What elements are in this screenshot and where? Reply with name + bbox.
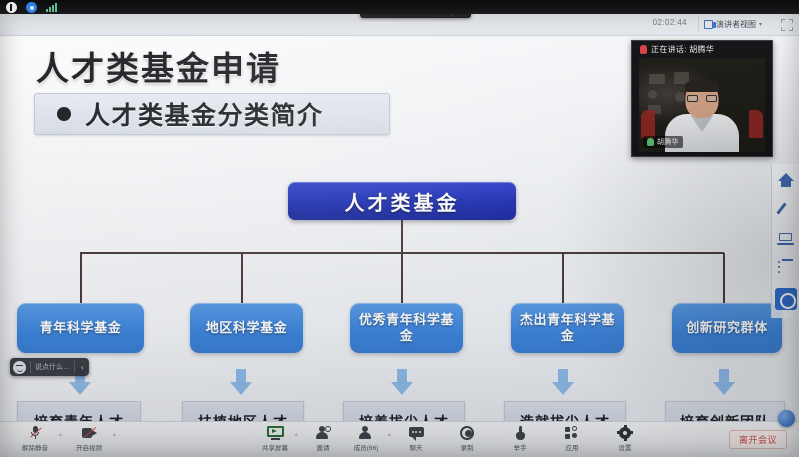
participant-name-badge: 胡腾华 — [643, 136, 683, 148]
list-icon[interactable] — [778, 259, 794, 275]
video-feed: 胡腾华 — [639, 58, 765, 152]
speaking-label: 正在讲话: 胡腾华 — [651, 44, 714, 55]
diagram-root-label: 人才类基金 — [345, 187, 460, 216]
divider — [30, 361, 31, 373]
sharing-notice-pill[interactable]: 您正在观看胡腾华的屏幕 — [360, 14, 471, 18]
speaker-video-tile[interactable]: 正在讲话: 胡腾华 胡 — [631, 40, 773, 157]
speaking-banner: 正在讲话: 胡腾华 — [632, 41, 772, 58]
leave-meeting-label: 离开会议 — [739, 433, 777, 446]
toolbar-video-label: 开启视频 — [76, 442, 102, 452]
divider — [451, 14, 452, 16]
quick-chat-input[interactable]: 说点什么… — [35, 362, 70, 372]
category-label: 地区科学基金 — [206, 320, 288, 336]
slide-subtitle-box: 人才类基金分类简介 — [34, 93, 390, 135]
pen-icon[interactable] — [778, 201, 794, 217]
power-icon — [6, 2, 17, 13]
mic-chevron-icon[interactable]: ^ — [59, 434, 62, 440]
system-tray — [6, 2, 57, 13]
mic-active-icon — [647, 138, 654, 146]
view-mode-label: 演讲者视图 — [716, 19, 756, 30]
category-card: 地区科学基金 — [190, 303, 303, 353]
connector-drop — [401, 253, 403, 303]
down-arrow-icon — [552, 369, 574, 395]
toolbar-chat-button[interactable]: 聊天 — [395, 425, 437, 452]
toolbar-item-label: 邀请 — [317, 442, 330, 452]
toolbar-mic-label: 解除静音 — [22, 442, 48, 452]
connector-trunk — [401, 220, 403, 253]
toolbar-record-button[interactable]: 录制 — [446, 425, 488, 452]
speaker-view-icon — [704, 20, 713, 29]
category-label: 青年科学基金 — [40, 320, 122, 336]
video-chevron-icon[interactable]: ^ — [113, 434, 116, 440]
participants-chevron-icon[interactable]: ^ — [388, 434, 391, 440]
connector-drop — [80, 253, 82, 303]
category-card: 杰出青年科学基金 — [511, 303, 624, 353]
emoji-icon[interactable] — [13, 361, 26, 374]
toolbar-share-screen-button[interactable]: 共享屏幕 — [254, 425, 296, 452]
view-mode-switch[interactable]: 演讲者视图 ▾ — [698, 16, 767, 32]
gear-icon — [618, 425, 632, 440]
toolbar-item-label: 录制 — [461, 442, 474, 452]
chair-right — [749, 110, 763, 138]
toolbar-raise-hand-button[interactable]: 举手 — [499, 425, 541, 452]
category-card: 优秀青年科学基金 — [350, 303, 463, 353]
bullet-dot-icon — [57, 107, 71, 121]
toolbar-item-label: 应用 — [566, 442, 579, 452]
hair — [685, 79, 719, 92]
meeting-topbar: 您正在观看胡腾华的屏幕 02:02:44 演讲者视图 ▾ — [0, 14, 799, 36]
glasses-icon — [687, 95, 717, 102]
shelf-object — [649, 74, 665, 84]
toolbar-video-button[interactable]: 开启视频 — [68, 425, 110, 452]
mic-muted-icon — [640, 45, 647, 54]
category-card: 创新研究群体 — [672, 303, 782, 353]
monitor-bezel — [0, 0, 799, 14]
chair-left — [641, 110, 655, 138]
toolbar-item-label: 设置 — [619, 442, 632, 452]
down-arrow-icon — [230, 369, 252, 395]
meeting-window: 您正在观看胡腾华的屏幕 02:02:44 演讲者视图 ▾ 人才类基金申请 人才类… — [0, 14, 799, 457]
chat-bubble-icon — [409, 425, 424, 440]
camera-off-icon — [82, 425, 97, 440]
share-chevron-icon[interactable]: ^ — [295, 434, 298, 440]
toolbar-settings-button[interactable]: 设置 — [604, 425, 646, 452]
toolbar-item-label: 举手 — [514, 442, 527, 452]
screen-photo: 您正在观看胡腾华的屏幕 02:02:44 演讲者视图 ▾ 人才类基金申请 人才类… — [0, 0, 799, 457]
category-card: 青年科学基金 — [17, 303, 144, 353]
shelf-object — [648, 90, 657, 99]
chevron-down-icon: ▾ — [759, 21, 762, 28]
slide-title: 人才类基金申请 — [36, 42, 281, 90]
raise-hand-icon — [515, 425, 526, 440]
slide-subtitle: 人才类基金分类简介 — [85, 96, 324, 132]
annotation-rail — [771, 164, 799, 318]
connector-drop — [562, 253, 564, 303]
leave-meeting-button[interactable]: 离开会议 — [729, 430, 787, 449]
toolbar-item-label: 成员(66) — [354, 442, 379, 452]
share-screen-icon — [267, 425, 284, 440]
participant-name: 胡腾华 — [657, 137, 679, 147]
toolbar-apps-button[interactable]: 应用 — [551, 425, 593, 452]
toolbar-invite-button[interactable]: 邀请 — [302, 425, 344, 452]
connector-drop — [241, 253, 243, 303]
collapse-icon[interactable]: ‹ — [79, 363, 86, 372]
connector-drop — [723, 253, 725, 303]
down-arrow-icon — [391, 369, 413, 395]
quick-chat-bar[interactable]: 说点什么… ‹ — [10, 358, 89, 376]
category-label: 杰出青年科学基金 — [515, 312, 620, 345]
floating-orb[interactable] — [778, 410, 795, 427]
apps-icon — [565, 425, 579, 440]
sharing-notice-text: 您正在观看胡腾华的屏幕 — [365, 14, 445, 16]
mic-muted-icon — [31, 425, 39, 440]
meeting-timer: 02:02:44 — [653, 18, 687, 27]
bluetooth-icon — [26, 2, 37, 13]
diagram-root-node: 人才类基金 — [288, 182, 516, 220]
laptop-icon[interactable] — [778, 230, 794, 246]
toolbar-item-label: 共享屏幕 — [262, 442, 288, 452]
meeting-toolbar: 解除静音 ^ 开启视频 ^ 共享屏幕 ^ 邀请 — [0, 421, 799, 457]
annotate-selected-icon[interactable] — [775, 288, 797, 310]
fullscreen-icon[interactable] — [781, 19, 793, 31]
toolbar-item-label: 聊天 — [410, 442, 423, 452]
toolbar-mic-button[interactable]: 解除静音 — [14, 425, 56, 452]
invite-person-icon — [316, 425, 330, 440]
toolbar-participants-button[interactable]: 成员(66) — [345, 425, 387, 452]
participants-icon — [359, 425, 373, 440]
divider — [74, 361, 75, 373]
record-icon — [460, 425, 474, 440]
signal-bars-icon — [46, 3, 57, 12]
category-label: 创新研究群体 — [686, 320, 768, 336]
down-arrow-icon — [713, 369, 735, 395]
home-icon[interactable] — [778, 172, 794, 188]
category-label: 优秀青年科学基金 — [354, 312, 459, 345]
